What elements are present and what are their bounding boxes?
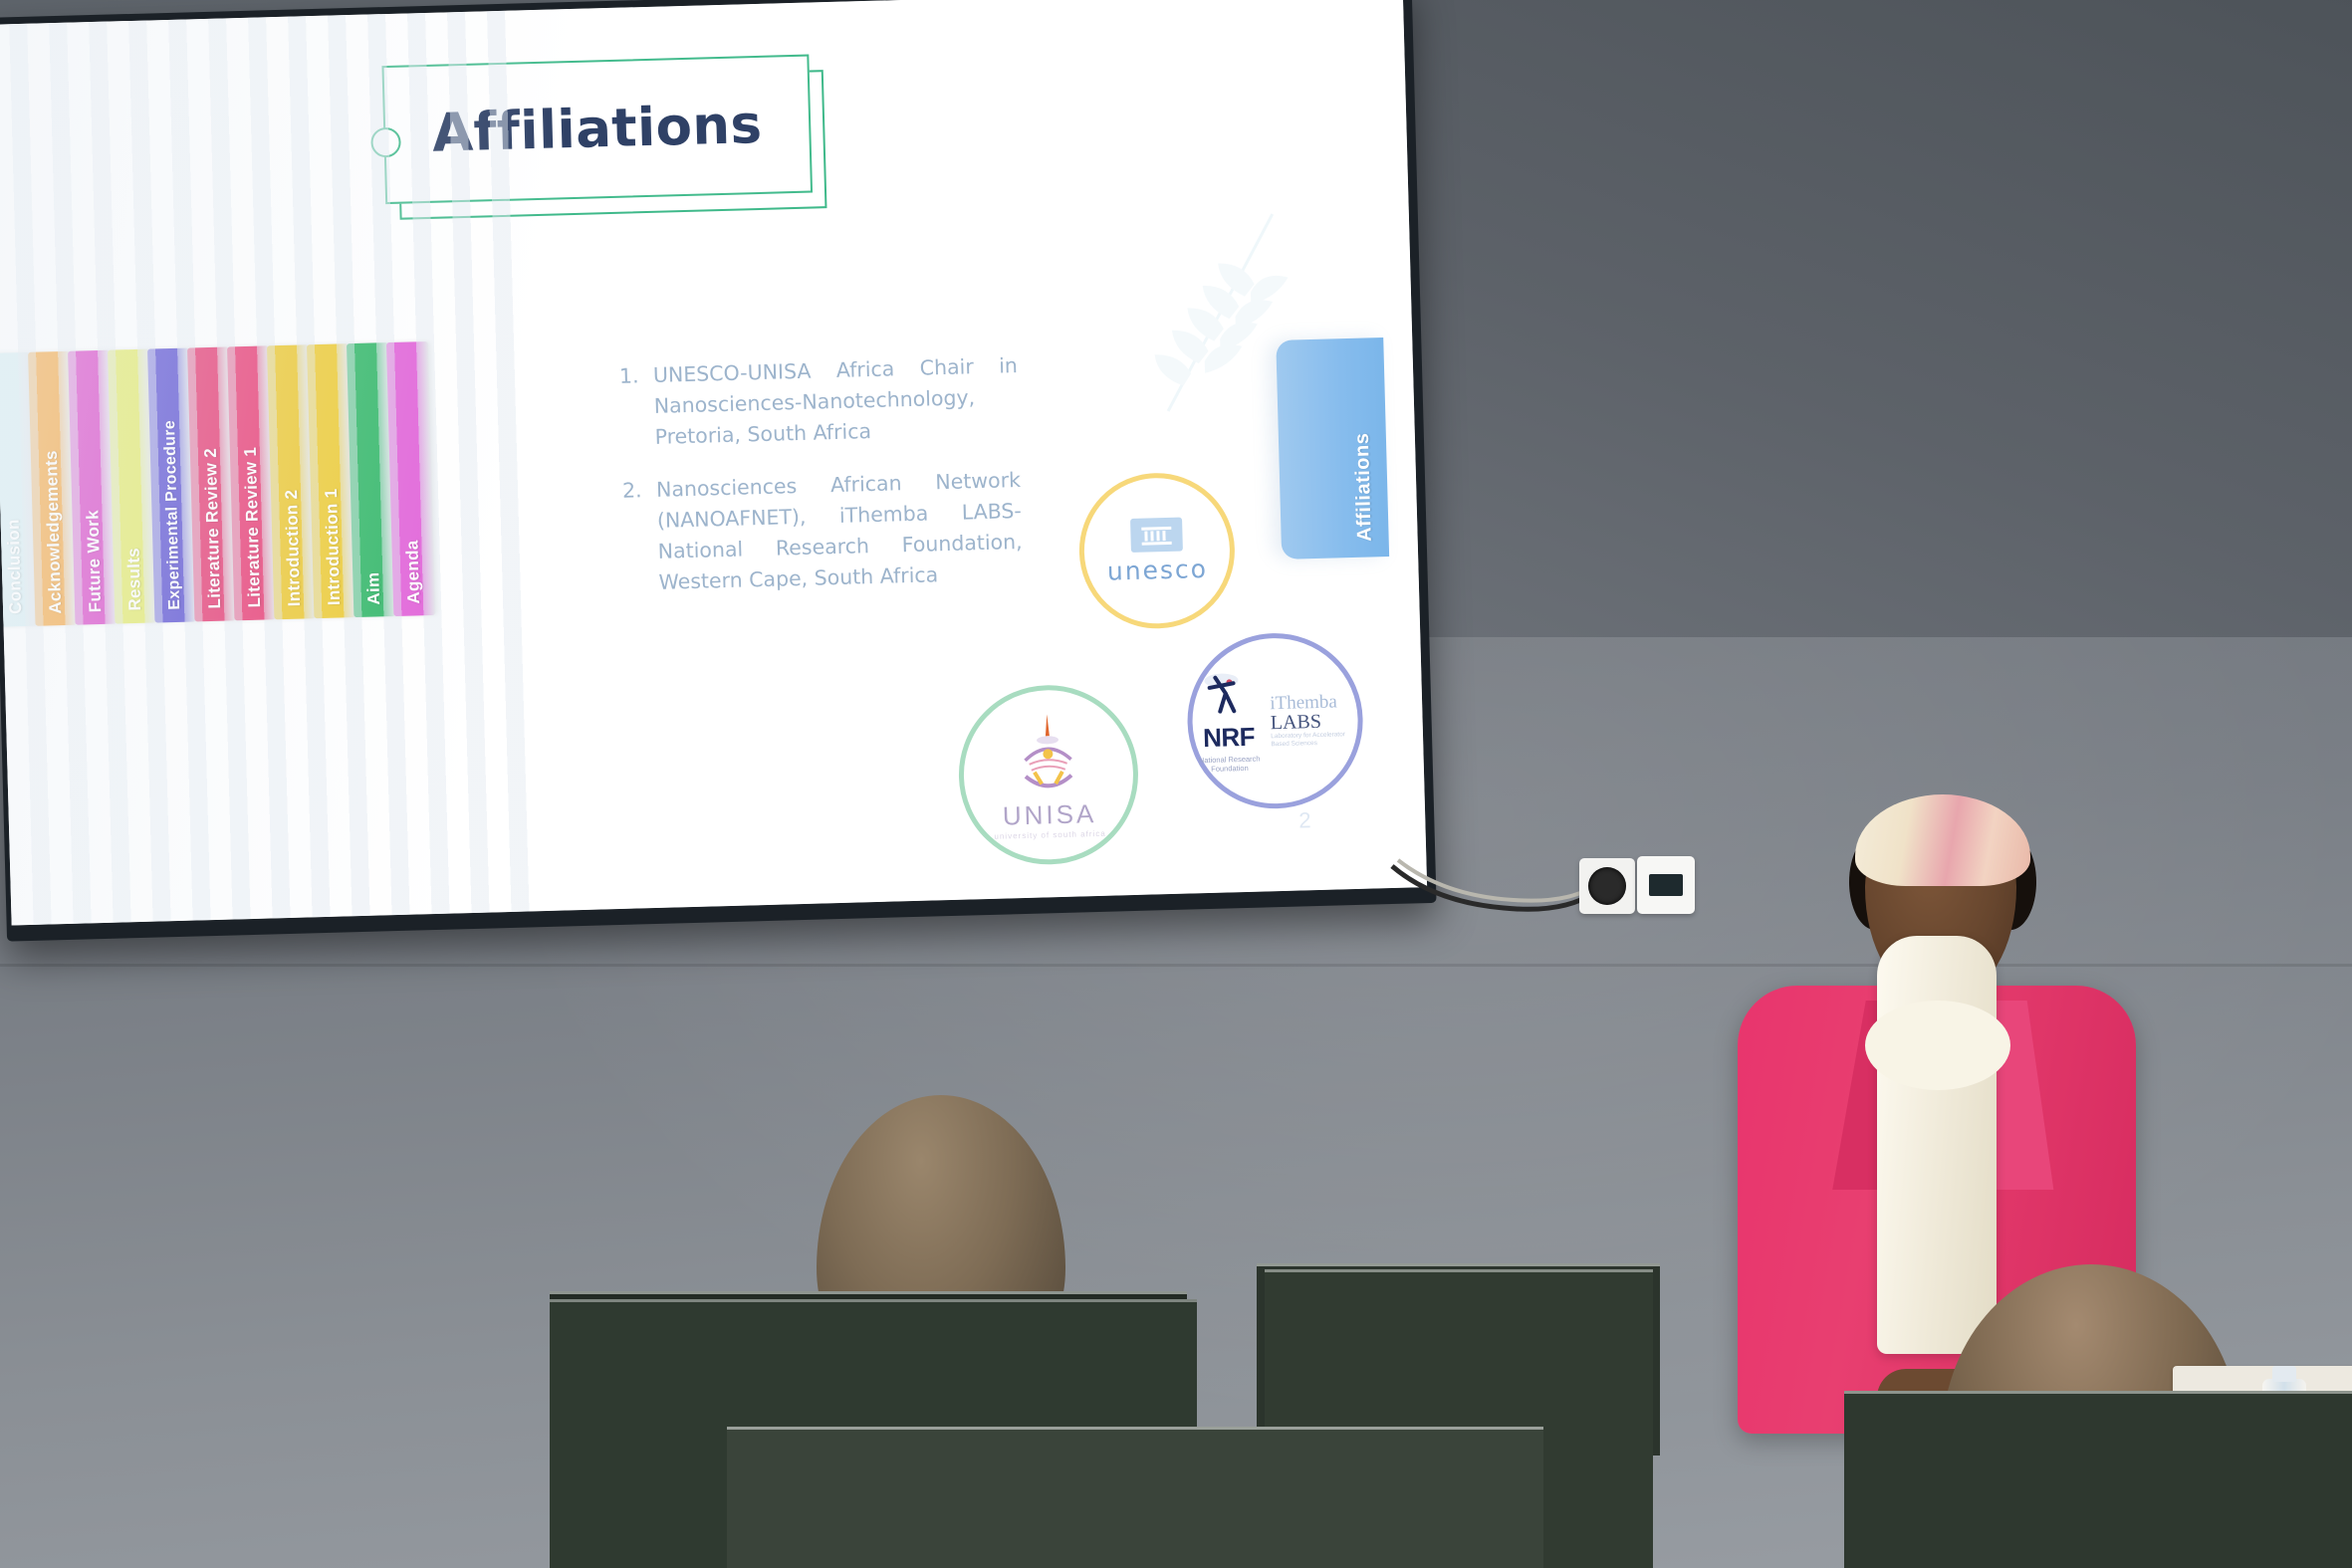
list-item-text: Nanosciences African Network (NANOAFNET)… — [656, 465, 1024, 598]
unisa-emblem-icon — [1002, 709, 1093, 796]
page-title: Affiliations — [431, 95, 763, 164]
leaf-decoration-icon — [1142, 193, 1297, 426]
tab-label: Results — [123, 548, 145, 611]
nrf-block: NRF National Research Foundation — [1191, 670, 1266, 774]
unesco-logo: unesco — [1077, 471, 1237, 630]
slide-title-frame: Affiliations — [381, 55, 808, 200]
presenter-scarf — [1877, 936, 1997, 1354]
tab-label: Introduction 1 — [322, 489, 345, 606]
socket-hole-icon — [1588, 867, 1626, 905]
slide-nav-tab-strip[interactable]: Conclusion Acknowledgements Future Work … — [0, 341, 433, 627]
sidebar-item-agenda[interactable]: Agenda — [386, 341, 435, 616]
lecture-desk-right-panel — [1844, 1394, 2352, 1568]
nrf-wordmark: NRF — [1193, 721, 1266, 754]
ithemba-subtext: Laboratory for Accelerator Based Science… — [1271, 730, 1358, 748]
affiliations-list: 1. UNESCO-UNISA Africa Chair in Nanoscie… — [619, 350, 1025, 621]
wall-network-socket[interactable] — [1637, 856, 1695, 914]
nrf-ithemba-logo: NRF National Research Foundation iThemba… — [1185, 631, 1365, 811]
unesco-temple-icon — [1130, 517, 1183, 552]
water-bottle-cap — [2272, 1366, 2296, 1382]
tab-label: Introduction 2 — [282, 490, 305, 607]
lecture-desk-front-row — [727, 1430, 1543, 1568]
nrf-subtext: National Research Foundation — [1193, 754, 1266, 774]
tab-label: Literature Review 1 — [241, 447, 265, 608]
nrf-ithemba-row: NRF National Research Foundation iThemba… — [1191, 668, 1359, 774]
title-frame: Affiliations — [381, 55, 813, 205]
tab-label: Agenda — [402, 540, 424, 604]
unisa-wordmark: UNISA — [1002, 798, 1096, 832]
presenter-scarf-knot — [1865, 1001, 2010, 1090]
labs-wordmark: LABS — [1271, 710, 1358, 732]
wall-mounted-display[interactable]: Affiliations 1. UNESCO-UNISA Africa Chai… — [0, 0, 1437, 942]
section-tab-label: Affiliations — [1351, 432, 1377, 542]
unisa-subtext: university of south africa — [994, 829, 1105, 841]
slide-number: 2 — [1298, 807, 1311, 833]
tab-label: Aim — [363, 571, 384, 605]
presentation-slide: Affiliations 1. UNESCO-UNISA Africa Chai… — [0, 0, 1427, 926]
nrf-figure-icon — [1199, 671, 1256, 718]
ithemba-block: iThemba LABS Laboratory for Accelerator … — [1270, 691, 1358, 748]
unesco-wordmark: unesco — [1106, 554, 1208, 585]
presenter-headwrap — [1855, 794, 2030, 886]
wall-power-socket[interactable] — [1579, 858, 1635, 914]
list-item-number: 2. — [622, 475, 659, 599]
tab-label: Conclusion — [4, 519, 27, 614]
list-item: 1. UNESCO-UNISA Africa Chair in Nanoscie… — [619, 350, 1020, 454]
tab-label: Acknowledgements — [42, 450, 66, 614]
list-item-number: 1. — [619, 360, 656, 454]
ithemba-wordmark: iThemba — [1270, 691, 1357, 712]
tab-label: Future Work — [83, 510, 106, 613]
display-screen[interactable]: Affiliations 1. UNESCO-UNISA Africa Chai… — [0, 0, 1427, 926]
list-item: 2. Nanosciences African Network (NANOAFN… — [622, 465, 1024, 599]
tab-label: Literature Review 2 — [201, 448, 225, 609]
tab-label: Experimental Procedure — [161, 420, 184, 610]
network-jack-icon — [1649, 874, 1683, 896]
list-item-text: UNESCO-UNISA Africa Chair in Nanoscience… — [653, 350, 1020, 453]
section-tab-affiliations[interactable]: Affiliations — [1276, 337, 1389, 560]
unisa-logo: UNISA university of south africa — [957, 683, 1141, 867]
wall-upper-right — [1394, 0, 2352, 637]
